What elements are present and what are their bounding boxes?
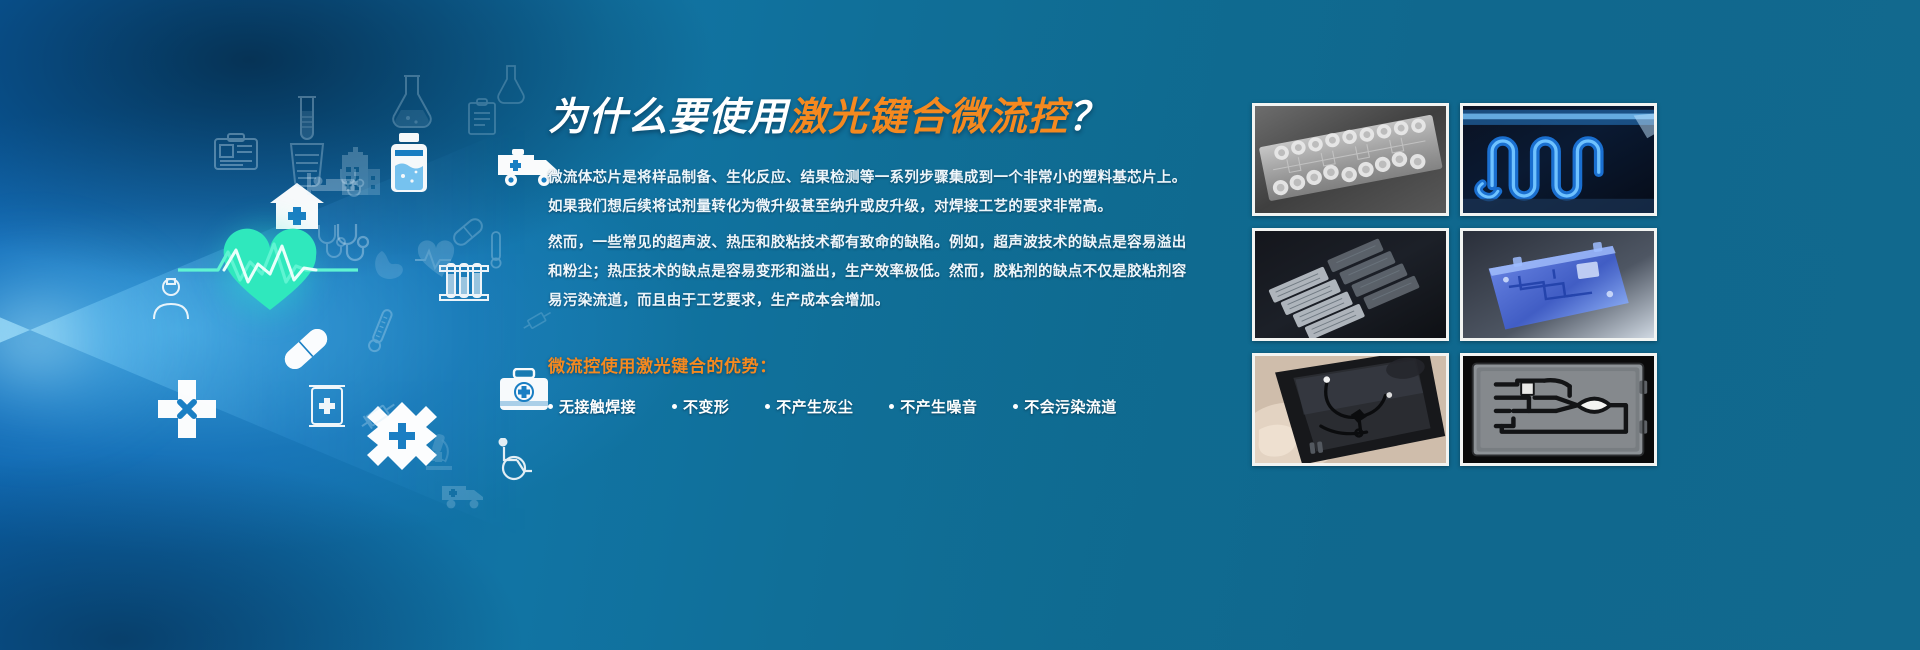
medical-cross-icon: [366, 401, 438, 471]
hospital-bed-icon: [306, 169, 358, 197]
advantages-list: 无接触焊接 不变形 不产生灰尘 不产生噪音 不会污染流道: [548, 396, 1188, 417]
gallery-item-microfluidic-chip-wells[interactable]: [1252, 103, 1449, 216]
flask-icon: [495, 64, 527, 104]
microscope-icon: [418, 430, 458, 474]
paragraph-drawbacks: 然而，一些常见的超声波、热压和胶粘技术都有致命的缺陷。例如，超声波技术的缺点是容…: [548, 229, 1188, 317]
list-item: 无接触焊接: [548, 396, 636, 417]
gallery-item-chip-stack-array[interactable]: [1252, 228, 1449, 341]
medicine-bottle-icon: [388, 132, 430, 194]
iv-drip-icon: [308, 382, 346, 430]
page-title: 为什么要使用激光键合微流控？: [548, 86, 1188, 142]
wheelchair-icon: [496, 438, 536, 482]
thermometer-icon: [486, 230, 508, 270]
beaker-icon: [287, 142, 327, 188]
list-item-label: 不变形: [683, 396, 729, 417]
heart-pulse-icon: [178, 222, 358, 318]
gallery-item-serpentine-channel-chip[interactable]: [1460, 103, 1657, 216]
content-column: 为什么要使用激光键合微流控？ 微流体芯片是将样品制备、生化反应、结果检测等一系列…: [548, 86, 1188, 417]
syringe-icon: [356, 400, 400, 432]
headline-accent-part: 激光键合微流控: [788, 96, 1068, 139]
kidney-icon: [372, 248, 406, 282]
medical-cross-icon: [156, 378, 218, 440]
clipboard-icon: [466, 98, 498, 136]
flask-icon: [390, 74, 434, 130]
list-item: 不变形: [672, 396, 729, 417]
headline-white-part: 为什么要使用: [548, 96, 788, 139]
gallery-item-blue-molded-cartridge[interactable]: [1460, 228, 1657, 341]
headline-tail: ？: [1068, 96, 1108, 139]
test-tube-icon: [295, 95, 319, 143]
thermometer-icon: [368, 307, 394, 355]
beam-cone: [0, 120, 530, 540]
bullet-dot-icon: [1013, 404, 1018, 409]
list-item: 不产生灰尘: [765, 396, 853, 417]
heart-pulse-icon: [415, 240, 469, 280]
list-item-label: 不产生灰尘: [776, 396, 853, 417]
pill-capsule-icon: [448, 212, 488, 252]
gallery-item-gray-channel-cartridge[interactable]: [1460, 353, 1657, 466]
list-item-label: 无接触焊接: [559, 396, 636, 417]
first-aid-kit-icon: [498, 368, 550, 412]
bullet-dot-icon: [548, 404, 553, 409]
ambulance-icon: [440, 480, 486, 510]
pill-capsule-icon: [279, 322, 333, 376]
advantages-subtitle: 微流控使用激光键合的优势：: [548, 352, 1188, 377]
list-item: 不产生噪音: [889, 396, 977, 417]
bullet-dot-icon: [889, 404, 894, 409]
list-item: 不会污染流道: [1013, 396, 1116, 417]
test-tube-rack-icon: [438, 262, 490, 304]
beam-glow: [0, 210, 200, 470]
list-item-label: 不会污染流道: [1024, 396, 1116, 417]
product-gallery: [1252, 103, 1657, 466]
bullet-dot-icon: [765, 404, 770, 409]
promo-banner: 为什么要使用激光键合微流控？ 微流体芯片是将样品制备、生化反应、结果检测等一系列…: [0, 0, 1920, 650]
bullet-dot-icon: [672, 404, 677, 409]
stethoscope-icon: [337, 167, 367, 201]
paragraph-intro: 微流体芯片是将样品制备、生化反应、结果检测等一系列步骤集成到一个非常小的塑料基芯…: [548, 164, 1188, 223]
list-item-label: 不产生噪音: [900, 396, 977, 417]
gallery-item-black-handheld-cartridge[interactable]: [1252, 353, 1449, 466]
hospital-building-icon: [340, 145, 382, 195]
id-card-icon: [213, 133, 259, 171]
